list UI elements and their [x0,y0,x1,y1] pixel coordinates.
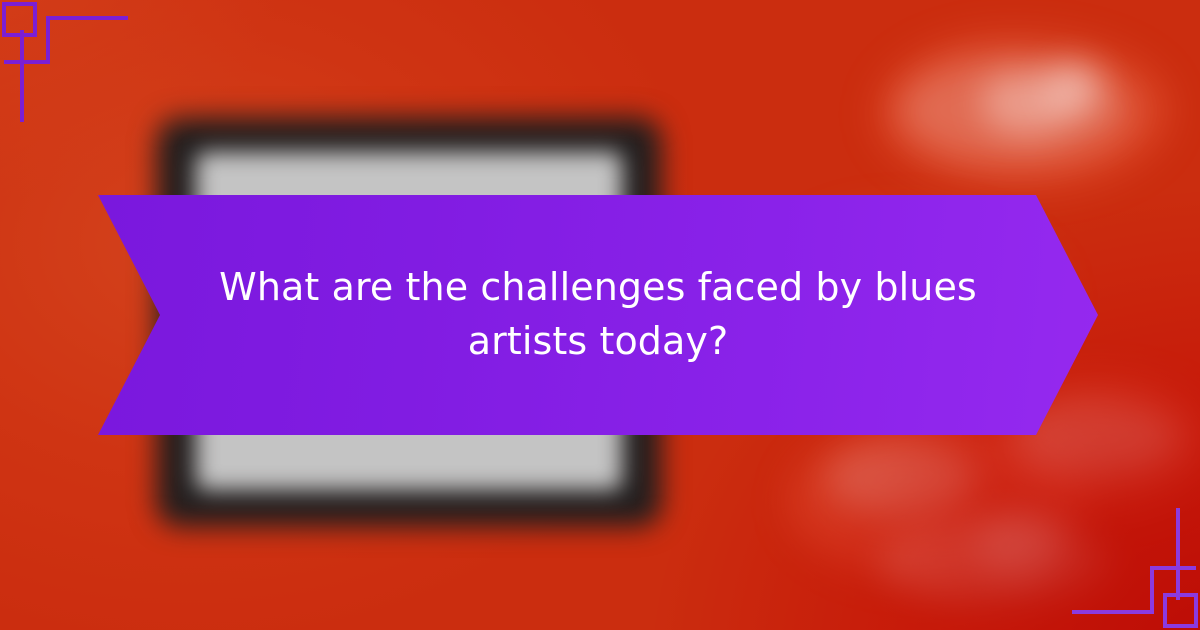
headline-ribbon: What are the challenges faced by blues a… [98,195,1098,435]
share-card: What are the challenges faced by blues a… [0,0,1200,630]
headline-text: What are the challenges faced by blues a… [218,261,978,369]
